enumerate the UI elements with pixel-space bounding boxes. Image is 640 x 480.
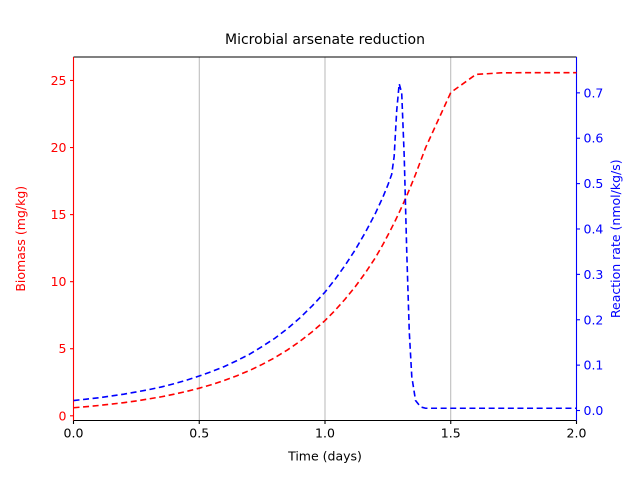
left-y-tick-label-0: 0 <box>59 408 67 423</box>
chart-svg: 0.00.51.01.52.005101520250.00.10.20.30.4… <box>0 0 640 480</box>
x-tick-label-0.5: 0.5 <box>189 426 209 441</box>
right-y-tick-label-0.2: 0.2 <box>584 312 604 327</box>
left-y-tick-label-20: 20 <box>51 140 67 155</box>
gridlines-group <box>199 57 451 421</box>
figure-canvas: 0.00.51.01.52.005101520250.00.10.20.30.4… <box>0 0 640 480</box>
right-y-tick-label-0.4: 0.4 <box>584 221 604 236</box>
x-tick-label-2.0: 2.0 <box>567 426 587 441</box>
right-y-tick-label-0.0: 0.0 <box>584 403 604 418</box>
x-tick-label-0.0: 0.0 <box>64 426 84 441</box>
left-y-tick-label-5: 5 <box>59 341 67 356</box>
left-y-axis-title: Biomass (mg/kg) <box>13 186 28 292</box>
x-axis-title: Time (days) <box>287 449 362 464</box>
right-y-tick-label-0.5: 0.5 <box>584 176 604 191</box>
chart-title: Microbial arsenate reduction <box>225 32 425 48</box>
x-tick-label-1.5: 1.5 <box>441 426 461 441</box>
left-y-tick-label-25: 25 <box>51 73 67 88</box>
right-y-tick-label-0.3: 0.3 <box>584 267 604 282</box>
left-y-tick-label-15: 15 <box>51 207 67 222</box>
right-y-tick-label-0.7: 0.7 <box>584 85 604 100</box>
right-y-tick-label-0.1: 0.1 <box>584 358 604 373</box>
axis-tick-labels-group: 0.00.51.01.52.005101520250.00.10.20.30.4… <box>51 73 604 441</box>
x-tick-label-1.0: 1.0 <box>315 426 335 441</box>
left-y-tick-label-10: 10 <box>51 274 67 289</box>
right-y-axis-title: Reaction rate (nmol/kg/s) <box>608 159 623 318</box>
right-y-tick-label-0.6: 0.6 <box>584 131 604 146</box>
axis-titles-group: Microbial arsenate reductionTime (days)B… <box>13 32 623 464</box>
